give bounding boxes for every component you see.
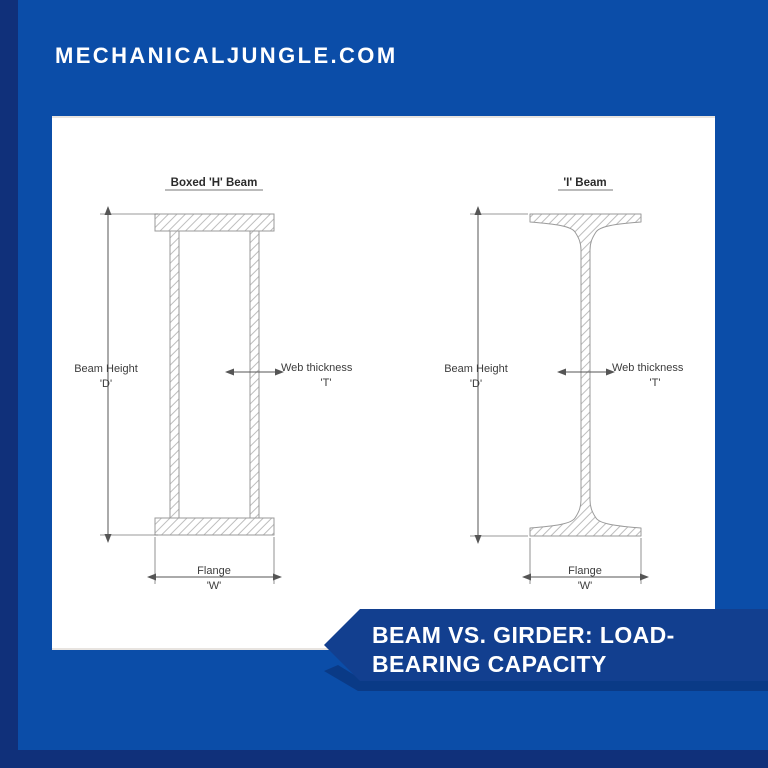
title-line-1: BEAM VS. GIRDER: LOAD- xyxy=(372,621,762,650)
brand-wordmark: MECHANICALJUNGLE.COM xyxy=(55,45,398,67)
title-banner: BEAM VS. GIRDER: LOAD- BEARING CAPACITY xyxy=(324,609,768,691)
poster-root: MECHANICALJUNGLE.COM Boxed 'H' Beam xyxy=(0,0,768,768)
diagram-panel xyxy=(52,116,715,650)
title-banner-text: BEAM VS. GIRDER: LOAD- BEARING CAPACITY xyxy=(372,621,762,678)
title-line-2: BEARING CAPACITY xyxy=(372,650,762,679)
